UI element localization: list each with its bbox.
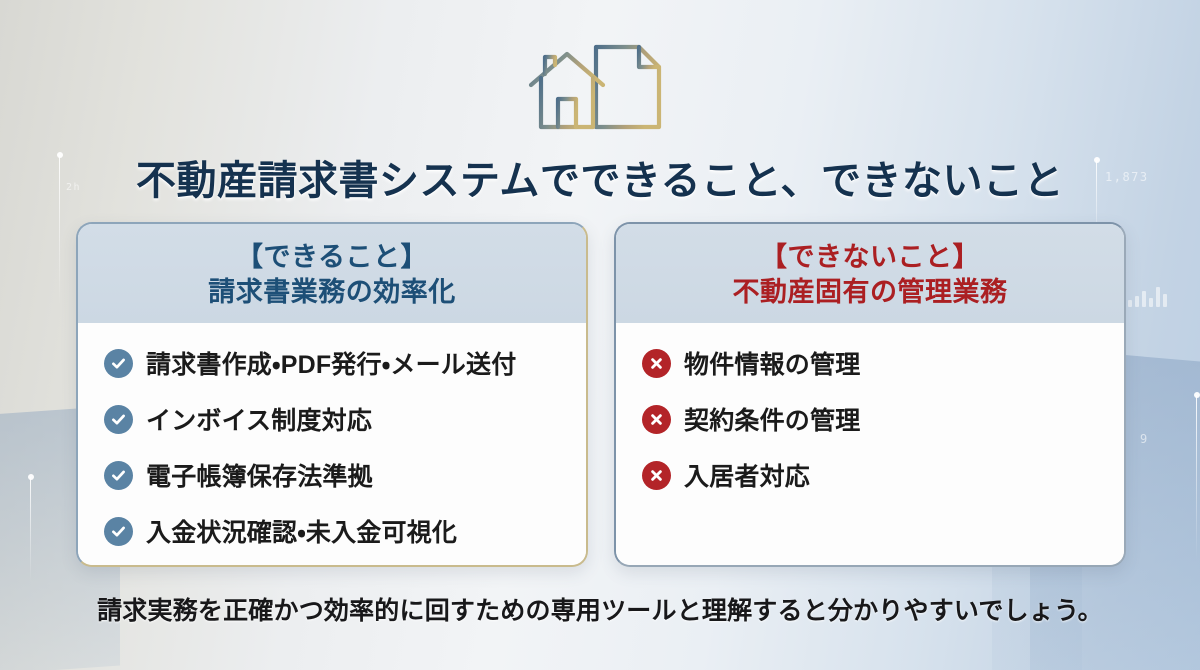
list-item-label: 電子帳簿保存法準拠 — [146, 457, 373, 493]
background-bar-chart-icon — [1128, 285, 1167, 307]
card-can-do-header: 【できること】 請求書業務の効率化 — [78, 224, 586, 323]
check-circle-icon — [104, 517, 133, 546]
card-can-do-heading-bracket: 【できること】 — [88, 240, 576, 275]
list-item: 入居者対応 — [642, 457, 1124, 493]
list-item-label: 物件情報の管理 — [684, 345, 860, 381]
list-item-label: インボイス制度対応 — [146, 401, 372, 437]
card-cannot-do-heading-bracket: 【できないこと】 — [626, 240, 1114, 275]
hero-icon-wrap — [0, 34, 1200, 138]
list-item: 契約条件の管理 — [642, 401, 1124, 437]
cross-circle-icon — [642, 461, 671, 490]
card-can-do-body: 請求書作成・PDF発行・メール送付 インボイス制度対応 電子帳簿保存法準拠 — [78, 323, 586, 567]
house-document-icon — [525, 34, 675, 138]
card-cannot-do-heading-sub: 不動産固有の管理業務 — [626, 275, 1114, 310]
list-item-label: 請求書作成・PDF発行・メール送付 — [146, 345, 516, 381]
card-can-do-heading-sub: 請求書業務の効率化 — [88, 275, 576, 310]
list-item-label: 入金状況確認・未入金可視化 — [146, 513, 457, 549]
cross-circle-icon — [642, 349, 671, 378]
list-item: 物件情報の管理 — [642, 345, 1124, 381]
check-circle-icon — [104, 461, 133, 490]
card-cannot-do-body: 物件情報の管理 契約条件の管理 入居者対応 — [616, 323, 1124, 565]
background-accent-line-4 — [1196, 395, 1197, 560]
check-circle-icon — [104, 405, 133, 434]
background-accent-line-2 — [30, 477, 31, 582]
list-item-label: 入居者対応 — [684, 457, 810, 493]
footer-caption: 請求実務を正確かつ効率的に回すための専用ツールと理解すると分かりやすいでしょう。 — [0, 591, 1200, 627]
check-circle-icon — [104, 349, 133, 378]
list-item-label: 契約条件の管理 — [684, 401, 860, 437]
card-cannot-do-header: 【できないこと】 不動産固有の管理業務 — [616, 224, 1124, 323]
list-item: 入金状況確認・未入金可視化 — [104, 513, 586, 549]
slide-canvas: 1,873 9 2h — [0, 0, 1200, 670]
list-item: インボイス制度対応 — [104, 401, 586, 437]
page-title: 不動産請求書システムでできること、できないこと — [0, 148, 1200, 206]
background-number-9: 9 — [1140, 432, 1149, 446]
cross-circle-icon — [642, 405, 671, 434]
list-item: 請求書作成・PDF発行・メール送付 — [104, 345, 586, 381]
comparison-cards: 【できること】 請求書業務の効率化 請求書作成・PDF発行・メール送付 インボイ… — [76, 222, 1126, 567]
card-cannot-do: 【できないこと】 不動産固有の管理業務 物件情報の管理 契約条件の管理 — [614, 222, 1126, 567]
list-item: 電子帳簿保存法準拠 — [104, 457, 586, 493]
card-can-do: 【できること】 請求書業務の効率化 請求書作成・PDF発行・メール送付 インボイ… — [76, 222, 588, 567]
